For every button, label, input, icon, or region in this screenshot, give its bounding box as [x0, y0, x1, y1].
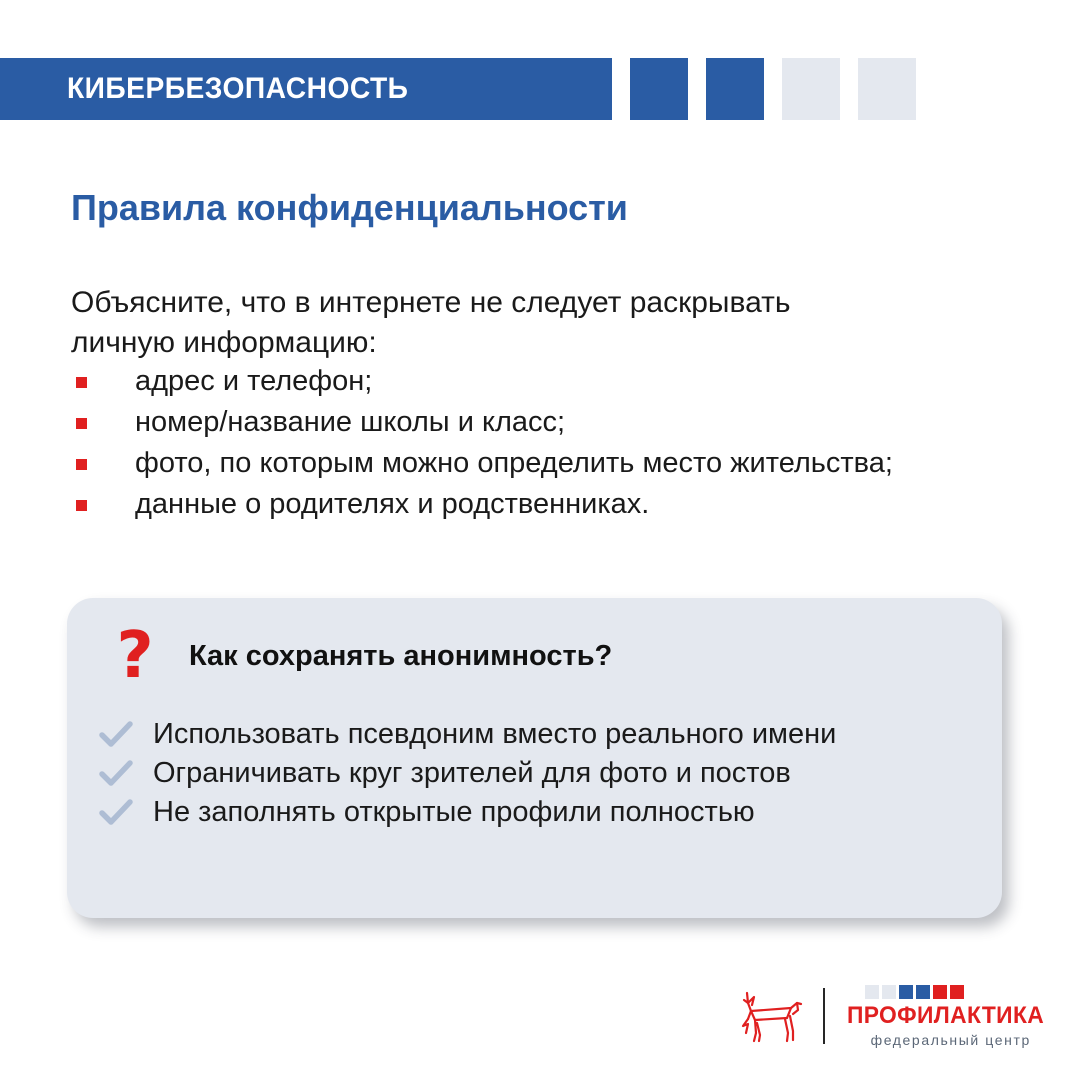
header-accent-block-grey-1: [782, 58, 840, 120]
list-item-label: Не заполнять открытые профили полностью: [153, 796, 755, 828]
card-title: Как сохранять анонимность?: [189, 640, 612, 673]
list-item: адрес и телефон;: [71, 363, 971, 401]
header-banner: КИБЕРБЕЗОПАСНОСТЬ: [0, 58, 916, 120]
header-accent-block-blue-2: [706, 58, 764, 120]
list-item-label: Использовать псевдоним вместо реального …: [153, 718, 836, 750]
square-bullet-icon: [76, 500, 87, 511]
footer-logo: ПРОФИЛАКТИКА федеральный центр: [735, 983, 1054, 1049]
list-item: Использовать псевдоним вместо реального …: [93, 716, 983, 753]
deer-logo-icon: [735, 983, 807, 1049]
card-header: ? Как сохранять анонимность?: [67, 624, 1002, 688]
list-item: фото, по которым можно определить место …: [71, 445, 971, 483]
logo-square-6: [950, 985, 964, 999]
header-accent-block-grey-2: [858, 58, 916, 120]
intro-paragraph: Объясните, что в интернете не следует ра…: [71, 283, 811, 363]
header-accent-block-blue-1: [630, 58, 688, 120]
question-mark-icon: ?: [87, 624, 183, 688]
logo-subtitle: федеральный центр: [847, 1033, 1054, 1047]
list-item-label: номер/название школы и класс;: [135, 406, 565, 438]
logo-square-4: [916, 985, 930, 999]
anonymity-check-list: Использовать псевдоним вместо реального …: [93, 716, 983, 833]
list-item-label: Ограничивать круг зрителей для фото и по…: [153, 757, 791, 789]
list-item: данные о родителях и родственниках.: [71, 486, 971, 524]
header-bar: КИБЕРБЕЗОПАСНОСТЬ: [0, 58, 612, 120]
logo-square-3: [899, 985, 913, 999]
logo-squares: [865, 985, 1054, 999]
page-title: Правила конфиденциальности: [71, 188, 628, 228]
square-bullet-icon: [76, 377, 87, 388]
list-item: номер/название школы и класс;: [71, 404, 971, 442]
check-icon: [99, 721, 133, 749]
list-item: Ограничивать круг зрителей для фото и по…: [93, 755, 983, 792]
privacy-bullet-list: адрес и телефон; номер/название школы и …: [71, 363, 971, 527]
logo-divider: [823, 988, 825, 1044]
header-title: КИБЕРБЕЗОПАСНОСТЬ: [67, 74, 408, 104]
logo-square-5: [933, 985, 947, 999]
square-bullet-icon: [76, 418, 87, 429]
list-item: Не заполнять открытые профили полностью: [93, 794, 983, 831]
list-item-label: адрес и телефон;: [135, 365, 372, 397]
logo-name: ПРОФИЛАКТИКА: [847, 1004, 1044, 1028]
check-icon: [99, 760, 133, 788]
check-icon: [99, 799, 133, 827]
list-item-label: фото, по которым можно определить место …: [135, 447, 893, 479]
square-bullet-icon: [76, 459, 87, 470]
logo-square-1: [865, 985, 879, 999]
logo-square-2: [882, 985, 896, 999]
list-item-label: данные о родителях и родственниках.: [135, 488, 649, 520]
anonymity-card: ? Как сохранять анонимность? Использоват…: [67, 598, 1002, 918]
logo-text-block: ПРОФИЛАКТИКА федеральный центр: [847, 985, 1054, 1047]
